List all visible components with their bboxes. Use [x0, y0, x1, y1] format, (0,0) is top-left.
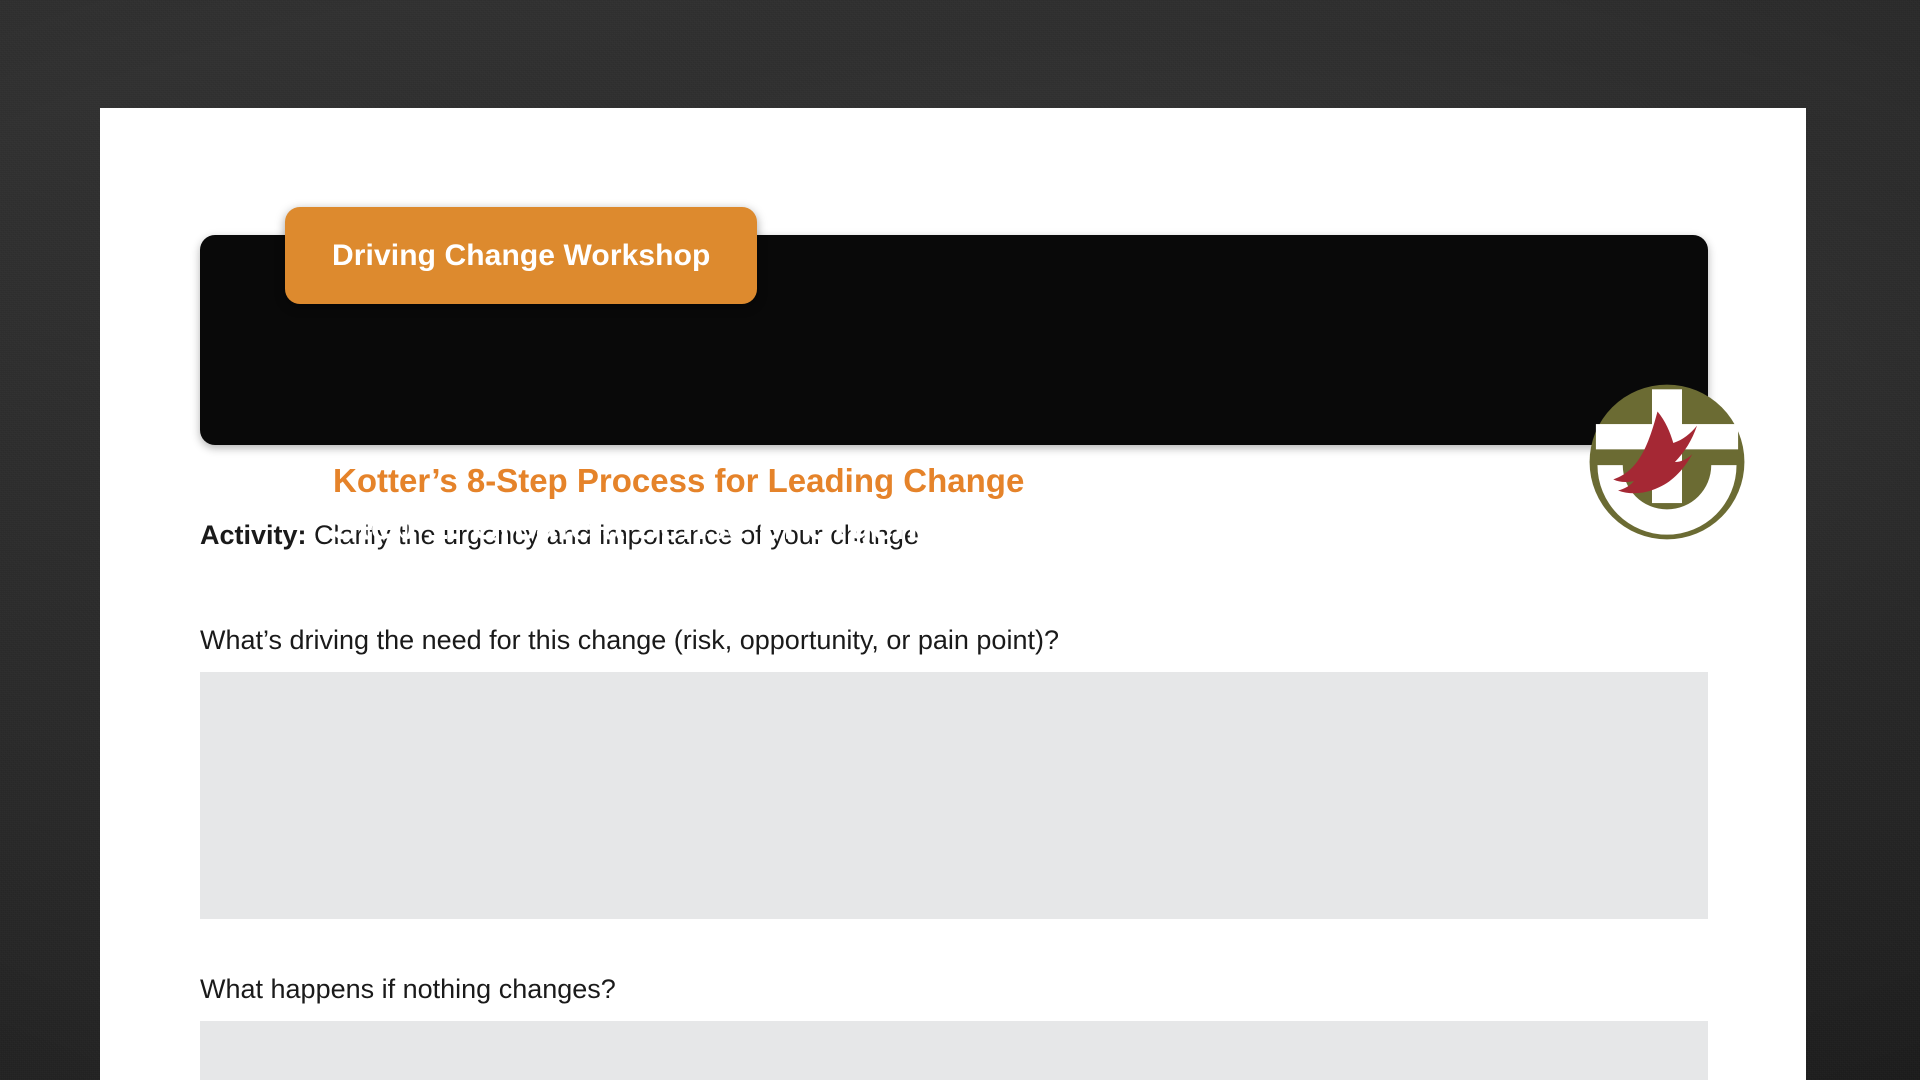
- field-nothing-changes-label: What happens if nothing changes?: [200, 974, 1708, 1005]
- page-title: Step 1: Create a Sense of Urgency – “Why…: [332, 505, 1240, 549]
- field-driving-need: What’s driving the need for this change …: [200, 625, 1708, 919]
- workshop-tab-label: Driving Change Workshop: [332, 239, 710, 273]
- field-nothing-changes: What happens if nothing changes?: [200, 974, 1708, 1080]
- document-page: Kotter’s 8-Step Process for Leading Chan…: [100, 108, 1806, 1080]
- activity-label: Activity:: [200, 520, 307, 550]
- field-driving-need-input[interactable]: [200, 672, 1708, 919]
- dove-cross-circle-logo: [1588, 383, 1746, 541]
- field-nothing-changes-input[interactable]: [200, 1021, 1708, 1080]
- field-driving-need-label: What’s driving the need for this change …: [200, 625, 1708, 656]
- kotter-process-eyebrow: Kotter’s 8-Step Process for Leading Chan…: [333, 462, 1024, 500]
- workshop-tab[interactable]: Driving Change Workshop: [285, 207, 757, 304]
